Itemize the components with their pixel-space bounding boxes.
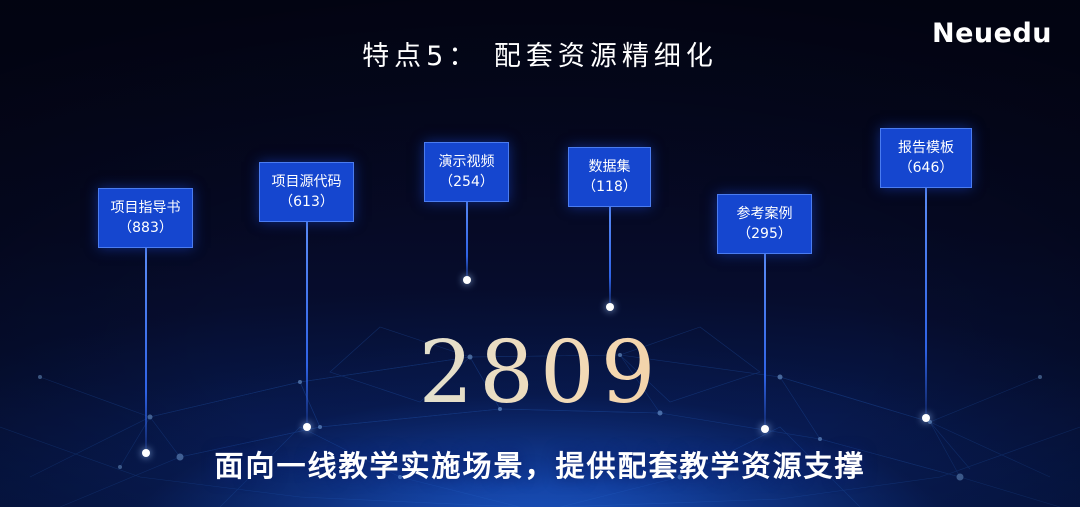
slide-canvas: Neuedu 特点5： 配套资源精细化 项目指导书 （883） 项目源代码 （6… (0, 0, 1080, 507)
slide-tagline: 面向一线教学实施场景，提供配套教学资源支撑 (0, 443, 1080, 485)
callout-label-report-template: 报告模板 (898, 140, 954, 156)
callout-label-dataset: 数据集 (589, 159, 631, 175)
callout-stem-dataset (609, 207, 611, 307)
callout-label-project-source: 项目源代码 (272, 174, 342, 190)
callout-dot-dataset (606, 303, 614, 311)
callout-count-project-source: （613） (268, 192, 345, 212)
highlight-number: 2809 (0, 330, 1080, 416)
callout-count-reference-case: （295） (726, 224, 803, 244)
callout-card-report-template[interactable]: 报告模板 （646） (880, 128, 972, 188)
callout-count-project-guide: （883） (107, 218, 184, 238)
vignette-overlay (0, 0, 1080, 507)
page-title: 特点5： 配套资源精细化 (0, 34, 1080, 73)
callout-card-reference-case[interactable]: 参考案例 （295） (717, 194, 812, 254)
callout-count-report-template: （646） (889, 158, 963, 178)
callout-label-reference-case: 参考案例 (737, 206, 793, 222)
callout-dot-reference-case (761, 425, 769, 433)
callout-dot-project-source (303, 423, 311, 431)
callout-card-project-source[interactable]: 项目源代码 （613） (259, 162, 354, 222)
callout-count-dataset: （118） (577, 177, 642, 197)
callout-card-dataset[interactable]: 数据集 （118） (568, 147, 651, 207)
callout-stem-demo-video (466, 200, 468, 280)
callout-dot-demo-video (463, 276, 471, 284)
callout-count-demo-video: （254） (433, 172, 500, 192)
callout-label-project-guide: 项目指导书 (111, 200, 181, 216)
callout-card-project-guide[interactable]: 项目指导书 （883） (98, 188, 193, 248)
callout-card-demo-video[interactable]: 演示视频 （254） (424, 142, 509, 202)
callout-label-demo-video: 演示视频 (439, 154, 495, 170)
